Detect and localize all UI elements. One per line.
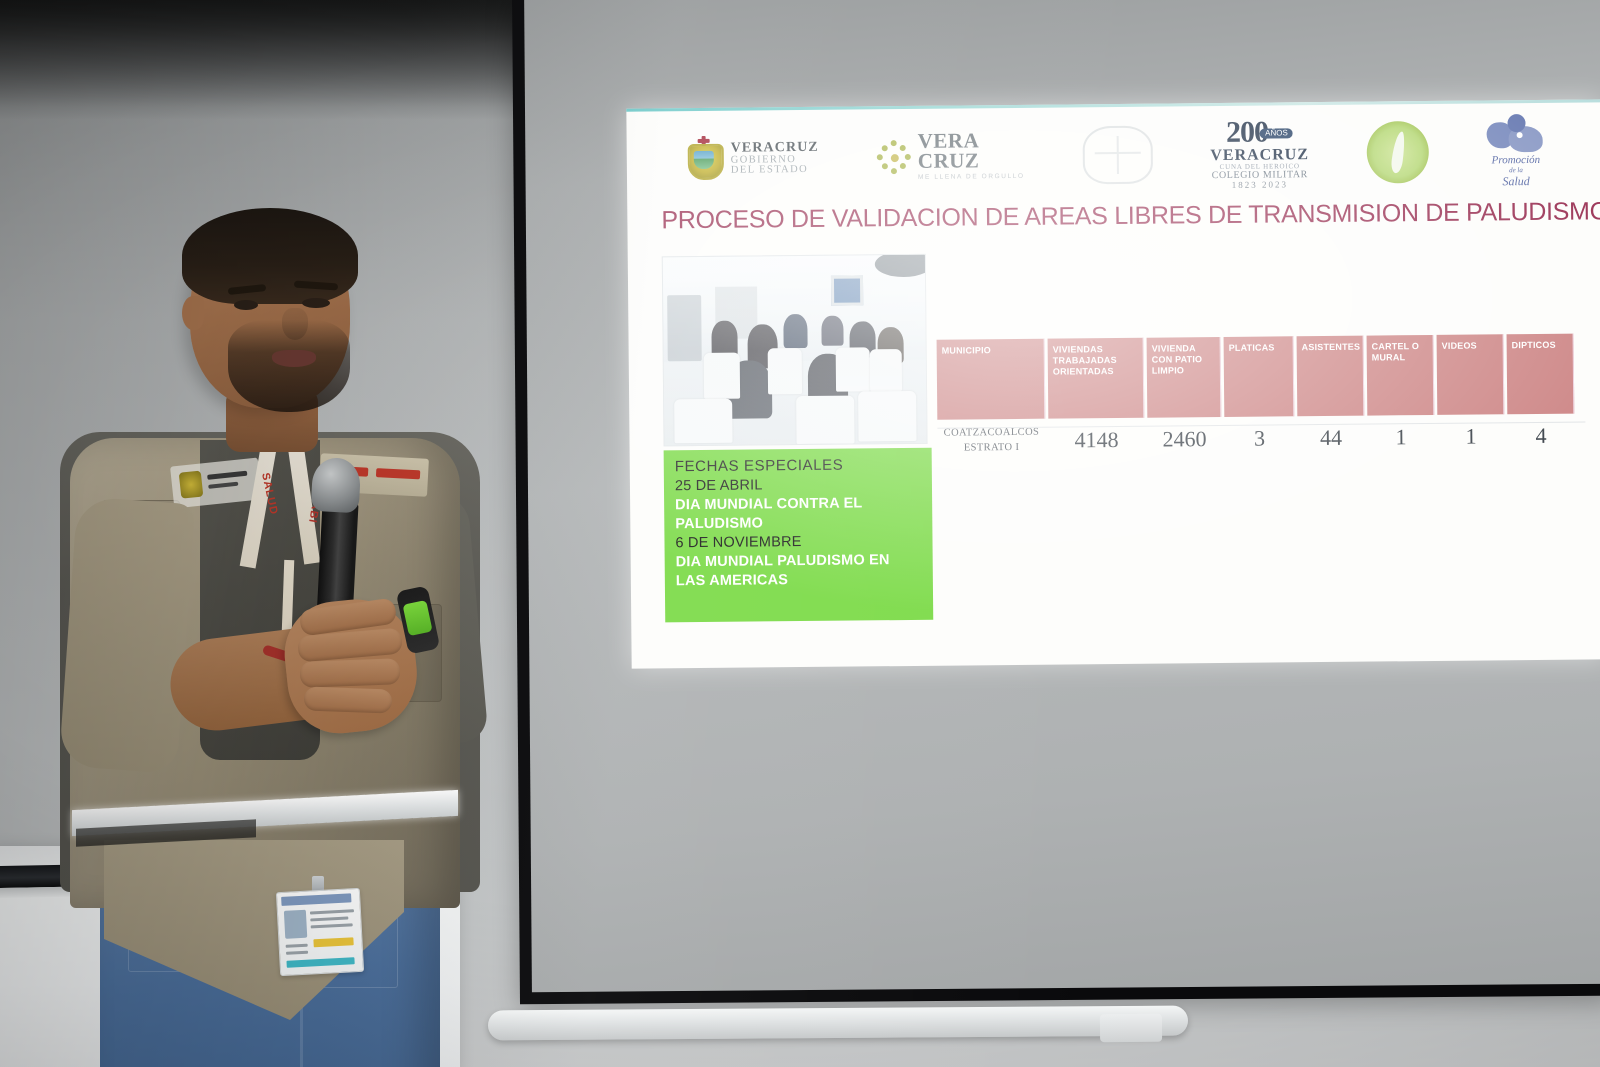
promo-line-3: Salud bbox=[1487, 173, 1545, 189]
logo-line-1: VERACRUZ bbox=[731, 140, 819, 155]
table-header-viviendas-trabajadas-orientadas: VIVIENDAS TRABAJADAS ORIENTADAS bbox=[1048, 338, 1145, 419]
cell-viviendas-trabajadas: 4148 bbox=[1048, 426, 1144, 453]
meeting-room-photo bbox=[662, 254, 928, 447]
id-badge bbox=[276, 888, 364, 976]
cell-dipticos: 4 bbox=[1507, 422, 1574, 449]
green-line-0: FECHAS ESPECIALES bbox=[675, 455, 921, 477]
special-dates-box: FECHAS ESPECIALES 25 DE ABRIL DIA MUNDIA… bbox=[664, 448, 934, 623]
presenter-ear bbox=[182, 296, 204, 330]
table-header-platicas: PLATICAS bbox=[1224, 336, 1295, 417]
cell-platicas: 3 bbox=[1224, 425, 1294, 452]
green-line-4: 6 DE NOVIEMBRE bbox=[675, 532, 921, 553]
presenter: SALUD INSABI bbox=[50, 200, 520, 1067]
promo-line-1: Promoción bbox=[1487, 153, 1545, 166]
cell-videos: 1 bbox=[1437, 423, 1504, 450]
logo-line-3: DEL ESTADO bbox=[731, 165, 819, 176]
promocion-de-la-salud-logo: Promoción de la Salud bbox=[1486, 113, 1545, 189]
indicators-table: MUNICIPIO VIVIENDAS TRABAJADAS ORIENTADA… bbox=[937, 334, 1586, 457]
table-header-videos: VIDEOS bbox=[1437, 334, 1505, 415]
green-line-1: 25 DE ABRIL bbox=[675, 475, 921, 496]
green-line-3: PALUDISMO bbox=[675, 513, 921, 534]
mosaic-line-2: CRUZ bbox=[918, 151, 1025, 172]
200-anos-veracruz-logo: 200AÑOS VERACRUZ CUNA DEL HEROICO COLEGI… bbox=[1210, 117, 1309, 190]
colegio-militar-outline-logo bbox=[1082, 126, 1153, 185]
table-header-row: MUNICIPIO VIVIENDAS TRABAJADAS ORIENTADA… bbox=[937, 334, 1586, 420]
green-line-5: DIA MUNDIAL PALUDISMO EN bbox=[676, 551, 922, 572]
mosaic-flower-icon bbox=[877, 140, 911, 174]
health-promotion-icon bbox=[1486, 113, 1544, 154]
slide-title: PROCESO DE VALIDACION DE AREAS LIBRES DE… bbox=[661, 198, 1581, 236]
veracruz-gobierno-logo: VERACRUZ GOBIERNO DEL ESTADO bbox=[684, 135, 820, 182]
table-header-municipio: MUNICIPIO bbox=[937, 339, 1046, 420]
screenshot-root: VERACRUZ GOBIERNO DEL ESTADO VERA CRUZ M… bbox=[0, 0, 1600, 1067]
cell-municipio: COATZACOALCOS ESTRATO I bbox=[937, 426, 1045, 456]
presenter-mouth bbox=[272, 350, 316, 367]
slide-logo-row: VERACRUZ GOBIERNO DEL ESTADO VERA CRUZ M… bbox=[626, 109, 1600, 200]
projection-screen-weight-bar bbox=[488, 1006, 1188, 1041]
cell-cartel-mural: 1 bbox=[1367, 424, 1434, 451]
green-line-6: LAS AMERICAS bbox=[676, 570, 922, 591]
mosaic-tagline: ME LLENA DE ORGULLO bbox=[918, 174, 1025, 182]
military-shield-outline-icon bbox=[1082, 126, 1153, 185]
veracruz-mosaic-logo: VERA CRUZ ME LLENA DE ORGULLO bbox=[877, 131, 1025, 182]
presenter-left-arm bbox=[59, 496, 196, 774]
cell-patio-limpio: 2460 bbox=[1147, 426, 1221, 453]
green-line-2: DIA MUNDIAL CONTRA EL bbox=[675, 494, 921, 515]
table-header-vivienda-con-patio-limpio: VIVIENDA CON PATIO LIMPIO bbox=[1147, 337, 1222, 418]
table-header-dipticos: DIPTICOS bbox=[1507, 334, 1575, 415]
projection-screen-pull-tab bbox=[1100, 1014, 1162, 1042]
leaf-icon bbox=[1367, 121, 1430, 184]
leaf-emblem-logo bbox=[1367, 121, 1430, 184]
veracruz-coat-of-arms-icon bbox=[684, 136, 724, 182]
table-header-cartel-o-mural: CARTEL O MURAL bbox=[1367, 335, 1435, 416]
anniversary-years: 1823 2023 bbox=[1211, 180, 1310, 190]
cell-asistentes: 44 bbox=[1297, 424, 1364, 451]
anniversary-badge: AÑOS bbox=[1260, 128, 1293, 138]
table-header-asistentes: ASISTENTES bbox=[1297, 336, 1365, 417]
projected-slide: VERACRUZ GOBIERNO DEL ESTADO VERA CRUZ M… bbox=[626, 99, 1600, 668]
